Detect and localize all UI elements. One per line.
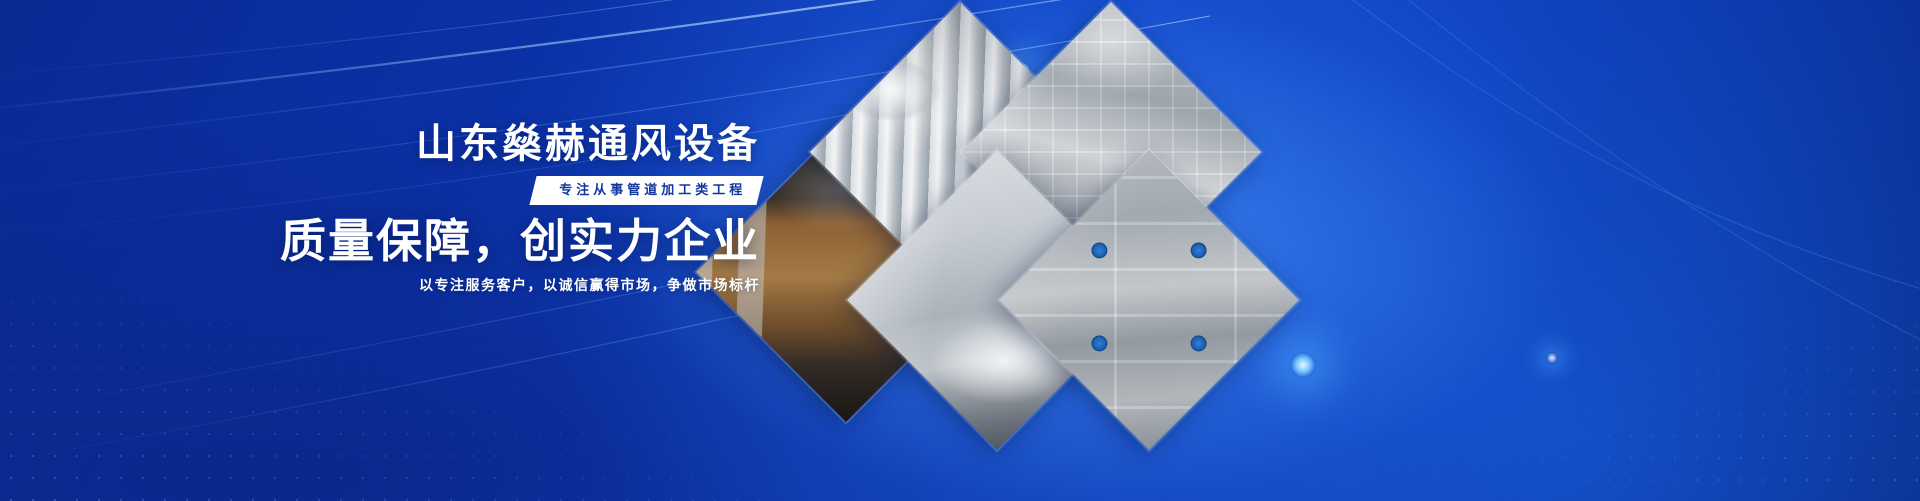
tagline-bar: 专注从事管道加工类工程 — [533, 176, 760, 205]
dot-grid-right — [1400, 271, 1920, 501]
dot-grid-left — [0, 291, 780, 501]
diamond-photo-collage — [800, 34, 1240, 464]
light-spot-icon — [1290, 352, 1316, 378]
light-spot-icon — [1546, 352, 1558, 364]
company-title: 山东燊赫通风设备 — [416, 124, 760, 164]
tagline-text: 专注从事管道加工类工程 — [559, 183, 746, 196]
hero-banner: 山东燊赫通风设备 专注从事管道加工类工程 质量保障，创实力企业 以专注服务客户，… — [0, 0, 1920, 501]
headline: 质量保障，创实力企业 — [280, 214, 760, 268]
subline: 以专注服务客户，以诚信赢得市场，争做市场标杆 — [419, 278, 760, 292]
